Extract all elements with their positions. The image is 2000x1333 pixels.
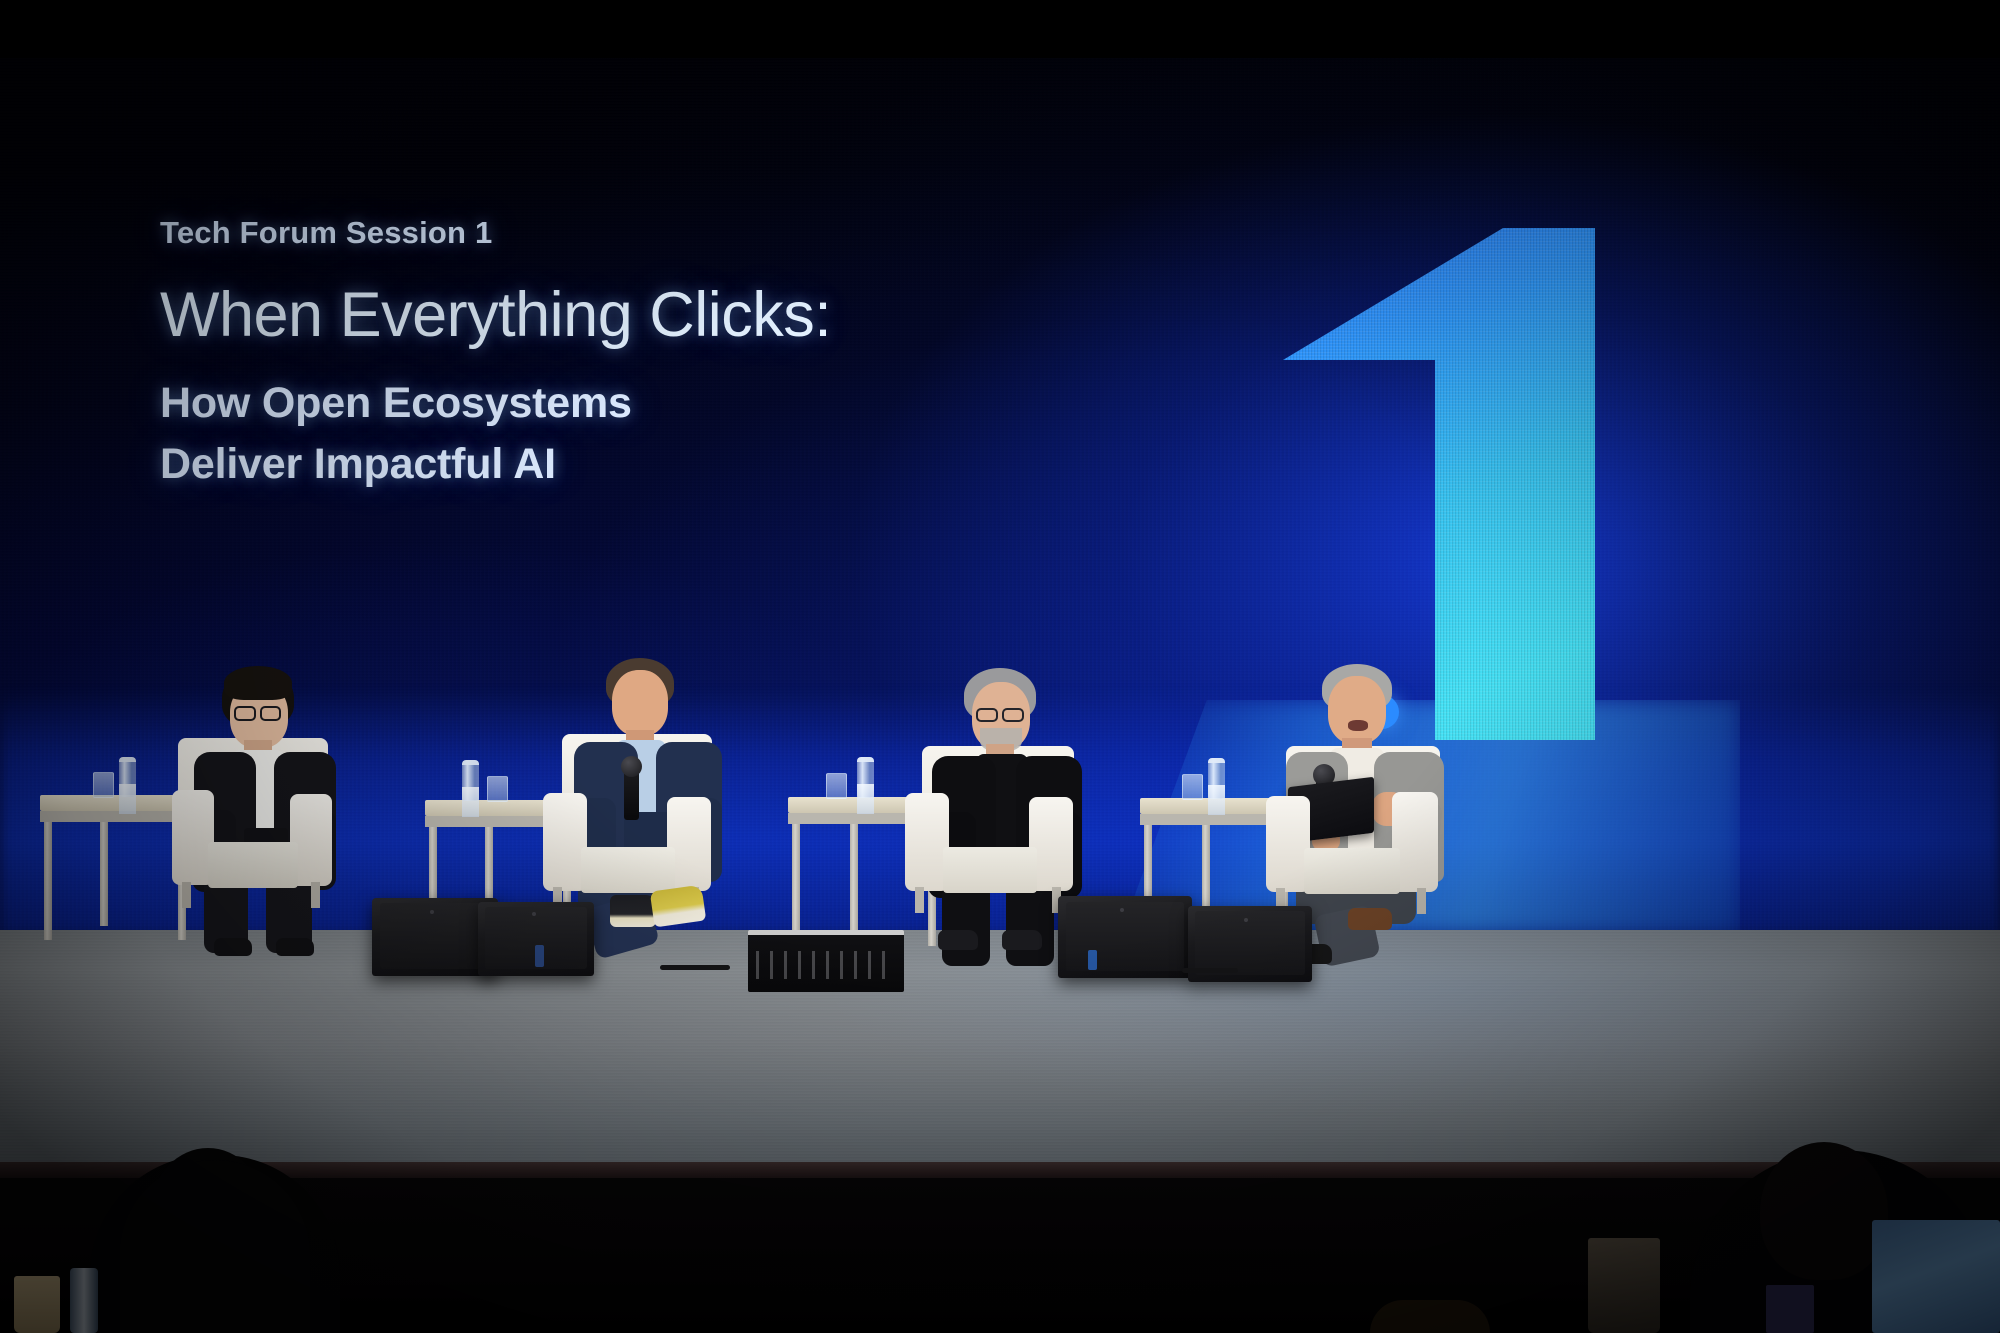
conference-stage-photo: Tech Forum Session 1 When Everything Cli… — [0, 0, 2000, 1333]
small-bottle-on-stage — [1088, 950, 1097, 970]
table-leg — [44, 822, 52, 940]
monitor-led-icon — [1244, 918, 1248, 922]
glasses-icon — [976, 708, 998, 722]
water-bottle-1 — [119, 757, 136, 797]
shoe — [214, 938, 252, 956]
foreground-paper-cup — [14, 1276, 60, 1333]
side-table-1 — [40, 795, 190, 945]
glasses-icon — [260, 706, 281, 721]
monitor-led-icon — [532, 912, 536, 916]
slide-text-block: Tech Forum Session 1 When Everything Cli… — [160, 215, 1160, 495]
sneaker-right — [650, 885, 707, 928]
armchair-4 — [1266, 792, 1438, 916]
bottle-label — [857, 784, 874, 814]
head — [612, 670, 668, 736]
numeral-graphic-group — [1275, 200, 1695, 740]
head — [1328, 676, 1386, 744]
screen-top-mask — [0, 0, 2000, 58]
hair-top — [224, 666, 292, 700]
sneaker-left — [610, 895, 656, 927]
stage-monitor-3 — [1058, 896, 1192, 978]
stage-cable — [660, 965, 730, 970]
chair-leg — [311, 882, 320, 908]
monitor-face — [1066, 902, 1184, 971]
microphone-head-icon — [621, 756, 642, 777]
chair-seat — [581, 847, 675, 893]
audience-head — [1760, 1142, 1888, 1280]
session-eyebrow: Tech Forum Session 1 — [160, 215, 1160, 251]
mouth — [1348, 720, 1368, 731]
foreground-coffee-cup — [1588, 1238, 1660, 1333]
water-bottle-4 — [1208, 758, 1225, 799]
drinking-glass-2 — [487, 776, 508, 802]
monitor-led-icon — [1120, 908, 1124, 912]
water-bottle-2 — [462, 760, 479, 801]
table-leg — [792, 824, 800, 946]
chair-leg — [915, 887, 924, 913]
numeral-one-icon — [1275, 200, 1695, 740]
table-leg — [850, 824, 858, 932]
foreground-blur-object — [1370, 1300, 1490, 1333]
monitor-face — [1195, 911, 1304, 975]
table-leg — [100, 822, 108, 926]
glasses-icon — [1002, 708, 1024, 722]
shoe — [1002, 930, 1042, 950]
slide-subline-2: Deliver Impactful AI — [160, 434, 1160, 495]
bottle-label — [1208, 785, 1225, 815]
stage-cable — [1182, 968, 1238, 973]
lanyard — [1766, 1285, 1814, 1333]
drinking-glass-4 — [1182, 774, 1203, 800]
slide-subline-1: How Open Ecosystems — [160, 373, 1160, 434]
chair-seat — [1304, 848, 1400, 894]
drinking-glass-3 — [826, 773, 847, 799]
audio-console — [748, 930, 904, 992]
dress-shoe-brown — [1348, 908, 1392, 930]
foreground-laptop-screen — [1872, 1220, 2000, 1333]
glasses-icon — [234, 706, 256, 721]
chair-leg — [1417, 888, 1426, 914]
console-knobs — [756, 951, 890, 979]
shoe — [938, 930, 978, 950]
bottle-label — [462, 787, 479, 817]
slide-headline: When Everything Clicks: — [160, 281, 1160, 349]
foreground-water-bottle — [70, 1268, 98, 1333]
table-top — [40, 795, 190, 811]
chair-leg — [182, 882, 191, 908]
chair-seat — [208, 842, 298, 888]
monitor-face — [380, 903, 491, 969]
table-apron — [40, 811, 190, 822]
chair-seat — [943, 847, 1037, 893]
monitor-led-icon — [430, 910, 434, 914]
armchair-1 — [172, 790, 332, 910]
water-bottle-3 — [857, 757, 874, 798]
shoe — [276, 938, 314, 956]
drinking-glass-1 — [93, 772, 114, 798]
stage-floor-texture — [0, 930, 2000, 1175]
bottle-label — [119, 784, 136, 814]
small-bottle-on-stage — [535, 945, 544, 967]
armchair-3 — [905, 793, 1073, 915]
